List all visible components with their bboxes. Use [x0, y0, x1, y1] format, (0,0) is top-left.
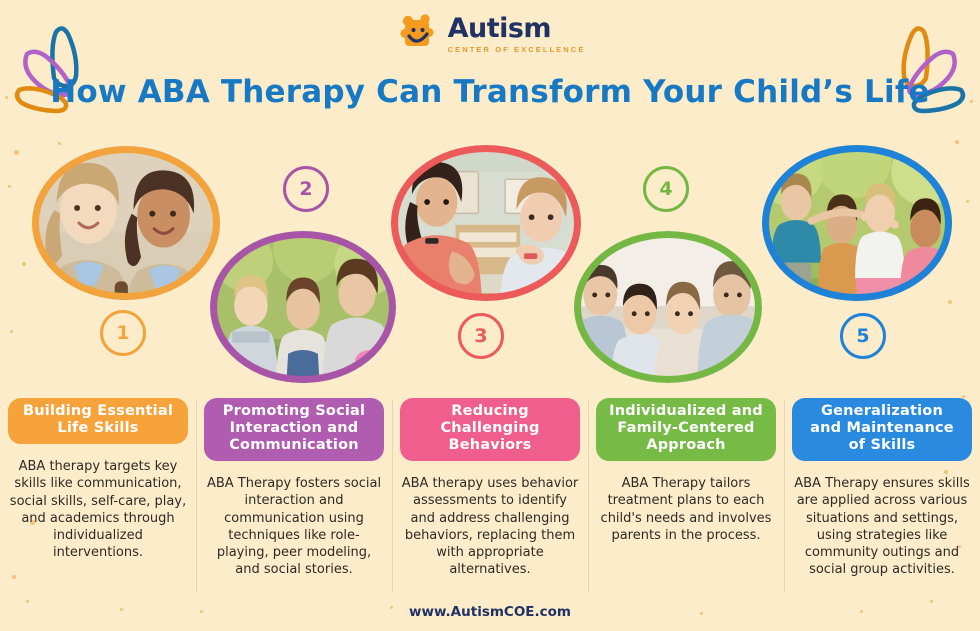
step-number-badge-3: 3	[458, 313, 504, 359]
step-heading-label: Building Essential Life Skills	[23, 403, 173, 436]
speckle-dot	[955, 140, 959, 144]
children-dancing-in-park-photo	[762, 145, 952, 301]
speckle-dot	[8, 185, 11, 188]
card-divider	[392, 400, 393, 592]
step-heading-label: Promoting Social Interaction and Communi…	[223, 403, 365, 453]
footer-url: www.AutismCOE.com	[0, 604, 980, 620]
step-number-badge-4: 4	[643, 166, 689, 212]
step-heading-badge-4: Individualized and Family-Centered Appro…	[596, 398, 776, 461]
step-photo-3	[391, 145, 581, 301]
logo-subtitle: CENTER OF EXCELLENCE	[448, 45, 586, 54]
step-number-badge-2: 2	[283, 166, 329, 212]
step-heading-label: Reducing Challenging Behaviors	[440, 403, 539, 453]
step-number-label: 5	[856, 325, 869, 347]
step-card-4: Individualized and Family-Centered Appro…	[588, 398, 784, 593]
step-card-3: Reducing Challenging BehaviorsABA therap…	[392, 398, 588, 593]
speckle-dot	[930, 600, 933, 603]
step-number-label: 2	[299, 178, 312, 200]
step-number-label: 4	[659, 178, 672, 200]
step-photo-1	[32, 146, 220, 300]
step-heading-badge-2: Promoting Social Interaction and Communi…	[204, 398, 384, 461]
steps-card-row: Building Essential Life SkillsABA therap…	[0, 398, 980, 593]
step-card-1: Building Essential Life SkillsABA therap…	[0, 398, 196, 593]
two-schoolgirls-smiling-photo	[32, 146, 220, 300]
speckle-dot	[966, 200, 969, 203]
speckle-dot	[22, 262, 26, 266]
therapist-with-child-classroom-photo	[391, 145, 581, 301]
step-photo-4	[574, 231, 762, 383]
speckle-dot	[10, 330, 13, 333]
step-description-3: ABA therapy uses behavior assessments to…	[400, 475, 580, 578]
step-description-4: ABA Therapy tailors treatment plans to e…	[596, 475, 776, 544]
speckle-dot	[14, 150, 19, 155]
brand-logo: Autism CENTER OF EXCELLENCE	[0, 14, 980, 54]
step-heading-badge-3: Reducing Challenging Behaviors	[400, 398, 580, 461]
step-number-badge-5: 5	[840, 313, 886, 359]
step-heading-badge-1: Building Essential Life Skills	[8, 398, 188, 444]
page-title: How ABA Therapy Can Transform Your Child…	[0, 74, 980, 110]
step-photo-5	[762, 145, 952, 301]
card-divider	[784, 400, 785, 592]
step-photo-2	[210, 231, 396, 383]
puzzle-smiley-icon	[395, 14, 439, 54]
step-heading-badge-5: Generalization and Maintenance of Skills	[792, 398, 972, 461]
speckle-dot	[26, 600, 29, 603]
step-number-label: 3	[474, 325, 487, 347]
step-number-label: 1	[116, 322, 129, 344]
step-card-2: Promoting Social Interaction and Communi…	[196, 398, 392, 593]
family-with-children-on-sofa-photo	[574, 231, 762, 383]
logo-title: Autism	[448, 15, 551, 42]
step-description-5: ABA Therapy ensures skills are applied a…	[792, 475, 972, 578]
step-heading-label: Individualized and Family-Centered Appro…	[609, 403, 763, 453]
toddlers-playing-outdoors-photo	[210, 231, 396, 383]
card-divider	[196, 400, 197, 592]
step-description-2: ABA Therapy fosters social interaction a…	[204, 475, 384, 578]
speckle-dot	[58, 142, 61, 145]
step-heading-label: Generalization and Maintenance of Skills	[810, 403, 954, 453]
step-card-5: Generalization and Maintenance of Skills…	[784, 398, 980, 593]
step-number-badge-1: 1	[100, 310, 146, 356]
card-divider	[588, 400, 589, 592]
step-description-1: ABA therapy targets key skills like comm…	[8, 458, 188, 561]
